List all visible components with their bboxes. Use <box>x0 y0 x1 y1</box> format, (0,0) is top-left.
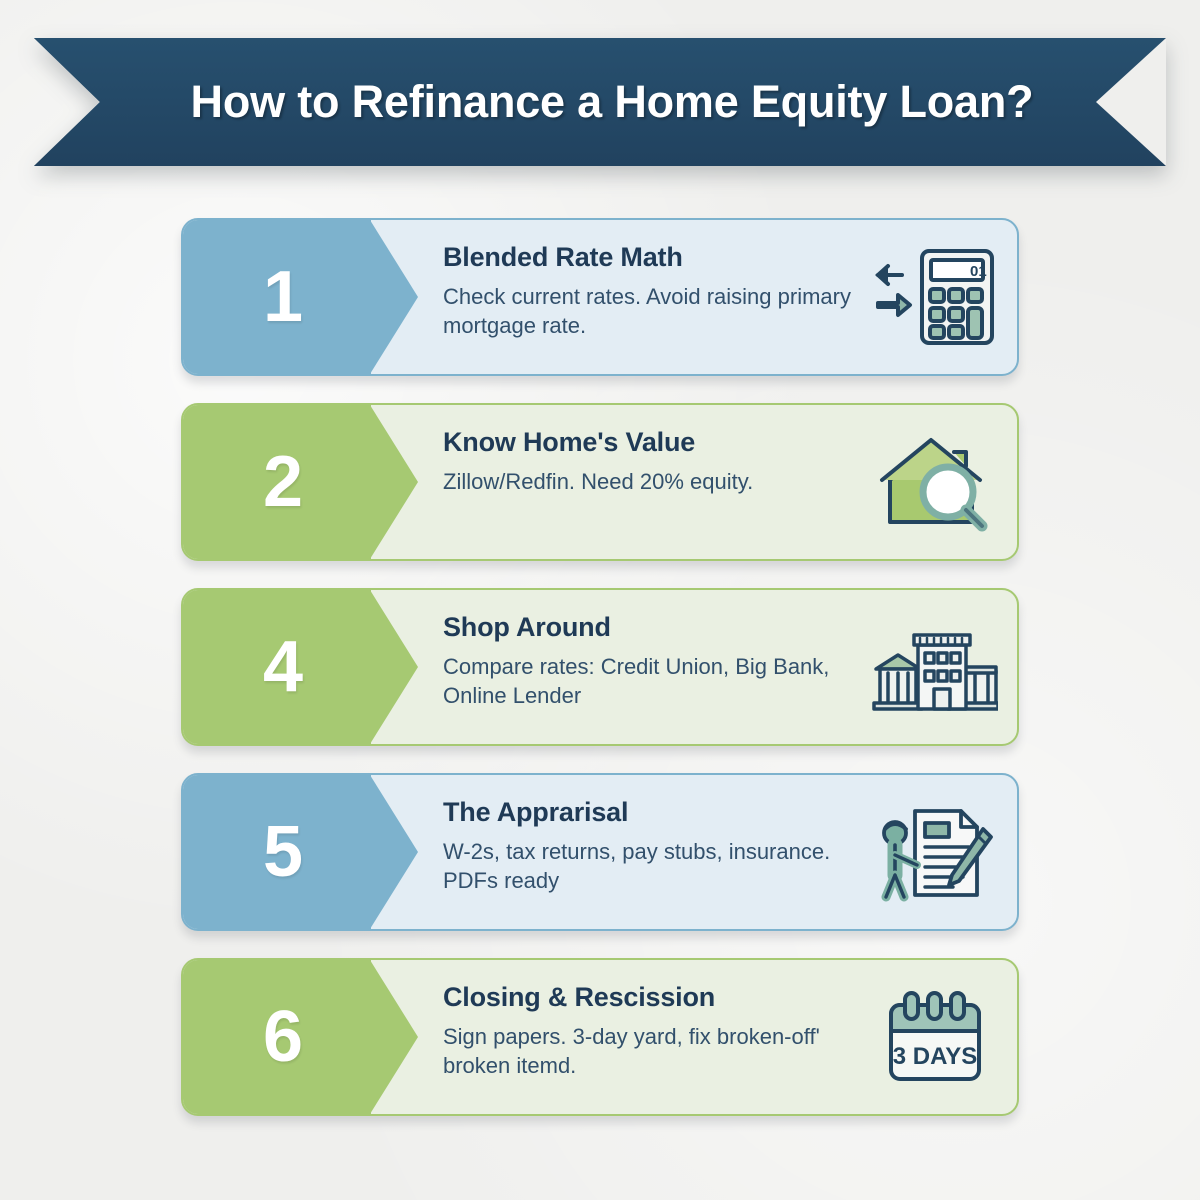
step-description: W-2s, tax returns, pay stubs, insurance.… <box>443 837 865 895</box>
step-number: 2 <box>263 446 303 518</box>
step-title: The Apprarisal <box>443 797 865 828</box>
step-title: Closing & Rescission <box>443 982 865 1013</box>
step-text-block: Closing & Rescission Sign papers. 3-day … <box>371 960 865 1114</box>
calendar-days-label: 3 DAYS <box>893 1043 978 1070</box>
step-number: 4 <box>263 631 303 703</box>
calendar-3days-icon: 3 DAYS <box>865 960 1017 1114</box>
step-text-block: Blended Rate Math Check current rates. A… <box>371 220 865 374</box>
step-number-badge: 5 <box>183 775 371 929</box>
step-description: Compare rates: Credit Union, Big Bank, O… <box>443 652 865 710</box>
step-card[interactable]: 1 Blended Rate Math Check current rates.… <box>181 218 1019 376</box>
calculator-icon: 01 <box>865 220 1017 374</box>
bank-buildings-icon <box>865 590 1017 744</box>
step-description: Sign papers. 3-day yard, fix broken-off'… <box>443 1022 865 1080</box>
step-card[interactable]: 6 Closing & Rescission Sign papers. 3-da… <box>181 958 1019 1116</box>
header-banner: How to Refinance a Home Equity Loan? <box>34 38 1166 166</box>
step-number: 6 <box>263 1001 303 1073</box>
document-signing-icon <box>865 775 1017 929</box>
svg-text:01: 01 <box>970 263 987 280</box>
step-number: 1 <box>263 261 303 333</box>
step-number-badge: 6 <box>183 960 371 1114</box>
step-text-block: The Apprarisal W-2s, tax returns, pay st… <box>371 775 865 929</box>
step-number-badge: 2 <box>183 405 371 559</box>
step-description: Zillow/Redfin. Need 20% equity. <box>443 467 865 496</box>
step-card[interactable]: 2 Know Home's Value Zillow/Redfin. Need … <box>181 403 1019 561</box>
step-text-block: Shop Around Compare rates: Credit Union,… <box>371 590 865 744</box>
step-card[interactable]: 4 Shop Around Compare rates: Credit Unio… <box>181 588 1019 746</box>
step-description: Check current rates. Avoid raising prima… <box>443 282 865 340</box>
banner-shape: How to Refinance a Home Equity Loan? <box>34 38 1166 166</box>
house-magnifier-icon <box>865 405 1017 559</box>
steps-list: 1 Blended Rate Math Check current rates.… <box>0 218 1200 1143</box>
step-title: Shop Around <box>443 612 865 643</box>
step-title: Blended Rate Math <box>443 242 865 273</box>
step-number-badge: 1 <box>183 220 371 374</box>
step-number: 5 <box>263 816 303 888</box>
step-title: Know Home's Value <box>443 427 865 458</box>
step-card[interactable]: 5 The Apprarisal W-2s, tax returns, pay … <box>181 773 1019 931</box>
step-text-block: Know Home's Value Zillow/Redfin. Need 20… <box>371 405 865 559</box>
step-number-badge: 4 <box>183 590 371 744</box>
page-title: How to Refinance a Home Equity Loan? <box>167 76 1034 128</box>
